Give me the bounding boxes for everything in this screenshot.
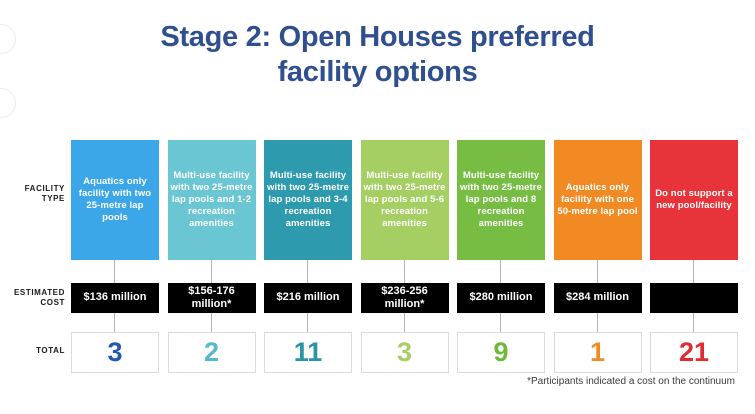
facility-type-box: Aquatics only facility with two 25-metre… <box>71 140 159 260</box>
total-value: 9 <box>493 339 508 366</box>
total-box: 11 <box>264 332 352 373</box>
page-title: Stage 2: Open Houses preferred facility … <box>0 20 755 91</box>
page-title-line-1: Stage 2: Open Houses preferred <box>160 21 594 53</box>
total-box: 9 <box>457 332 545 373</box>
estimated-cost-box <box>650 283 738 313</box>
estimated-cost-box: $236-256 million* <box>361 283 449 313</box>
estimated-cost-box: $136 million <box>71 283 159 313</box>
connector-line-cost-to-total <box>307 312 308 332</box>
row-label-total: TOTAL <box>36 346 65 356</box>
connector-line-type-to-cost <box>211 260 212 283</box>
facility-type-box: Do not support a new pool/facility <box>650 140 738 260</box>
row-label-facility-type: FACILITY TYPE <box>0 184 65 205</box>
page-title-line-2: facility options <box>0 55 755 90</box>
facility-type-box: Multi-use facility with two 25-metre lap… <box>168 140 256 260</box>
facility-option-column: Multi-use facility with two 25-metre lap… <box>168 140 256 375</box>
estimated-cost-box: $216 million <box>264 283 352 313</box>
estimated-cost-box: $156-176 million* <box>168 283 256 313</box>
facility-option-column: Multi-use facility with two 25-metre lap… <box>264 140 352 375</box>
total-value: 21 <box>679 339 709 366</box>
facility-option-column: Do not support a new pool/facility21 <box>650 140 738 375</box>
total-value: 11 <box>294 339 323 366</box>
total-value: 3 <box>397 339 412 366</box>
connector-line-type-to-cost <box>404 260 405 283</box>
connector-line-cost-to-total <box>500 312 501 332</box>
total-value: 1 <box>590 339 605 366</box>
connector-line-type-to-cost <box>114 260 115 283</box>
facility-option-column: Multi-use facility with two 25-metre lap… <box>361 140 449 375</box>
estimated-cost-box: $284 million <box>554 283 642 313</box>
connector-line-cost-to-total <box>404 312 405 332</box>
connector-line-type-to-cost <box>307 260 308 283</box>
connector-line-type-to-cost <box>597 260 598 283</box>
row-labels: FACILITY TYPE ESTIMATED COST TOTAL <box>0 140 65 375</box>
total-box: 21 <box>650 332 738 373</box>
footnote: *Participants indicated a cost on the co… <box>527 376 735 387</box>
estimated-cost-box: $280 million <box>457 283 545 313</box>
total-box: 2 <box>168 332 256 373</box>
connector-line-cost-to-total <box>597 312 598 332</box>
facility-type-box: Multi-use facility with two 25-metre lap… <box>264 140 352 260</box>
total-value: 3 <box>107 339 122 366</box>
facility-option-column: Aquatics only facility with two 25-metre… <box>71 140 159 375</box>
connector-line-cost-to-total <box>114 312 115 332</box>
total-value: 2 <box>204 339 219 366</box>
decorative-arc-bottom <box>0 88 16 118</box>
facility-type-box: Aquatics only facility with one 50-metre… <box>554 140 642 260</box>
connector-line-cost-to-total <box>211 312 212 332</box>
facility-type-box: Multi-use facility with two 25-metre lap… <box>457 140 545 260</box>
connector-line-type-to-cost <box>693 260 694 283</box>
comparison-table: Aquatics only facility with two 25-metre… <box>71 140 735 375</box>
total-box: 3 <box>361 332 449 373</box>
facility-option-column: Multi-use facility with two 25-metre lap… <box>457 140 545 375</box>
total-box: 3 <box>71 332 159 373</box>
row-label-estimated-cost: ESTIMATED COST <box>0 288 65 309</box>
facility-type-box: Multi-use facility with two 25-metre lap… <box>361 140 449 260</box>
connector-line-cost-to-total <box>693 312 694 332</box>
facility-option-column: Aquatics only facility with one 50-metre… <box>554 140 642 375</box>
total-box: 1 <box>554 332 642 373</box>
connector-line-type-to-cost <box>500 260 501 283</box>
